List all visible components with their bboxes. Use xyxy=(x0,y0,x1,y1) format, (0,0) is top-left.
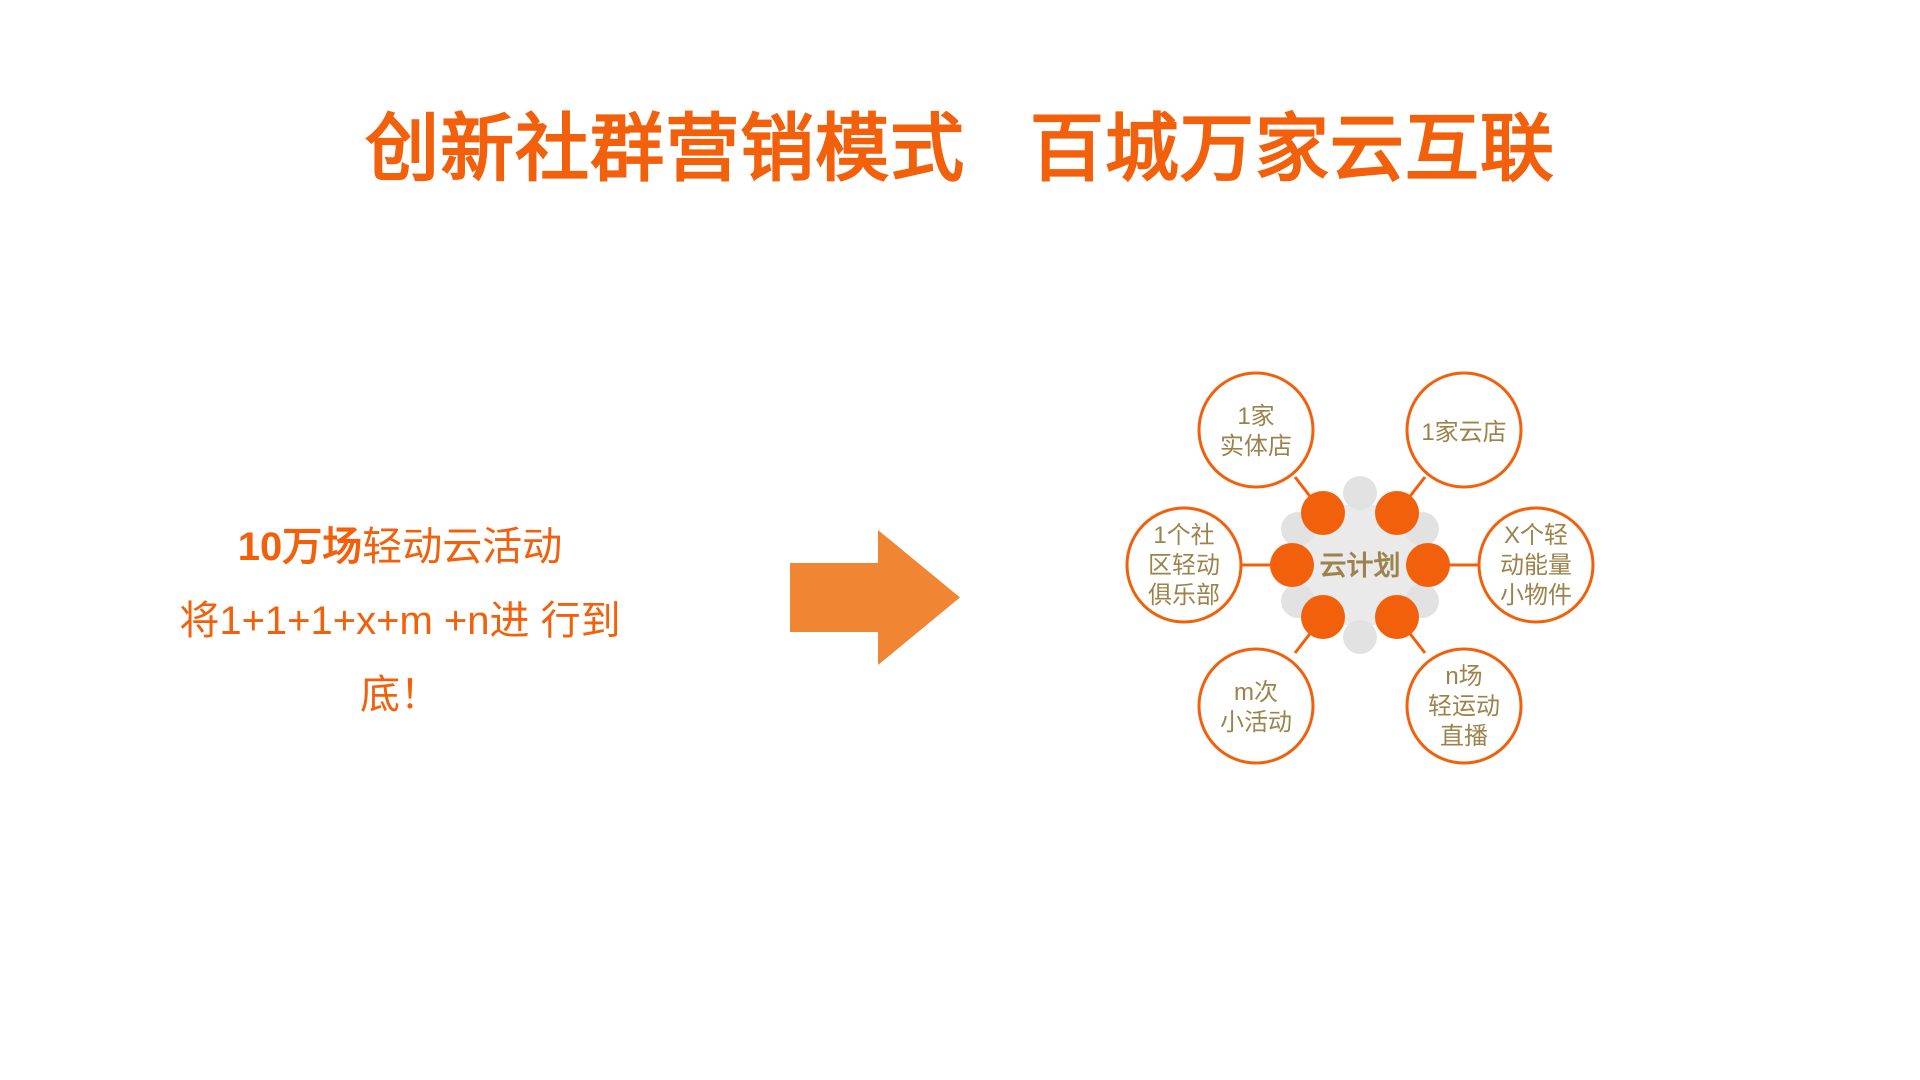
left-text-line-1: 10万场轻动云活动 xyxy=(70,510,730,584)
left-text-line-2: 将1+1+1+x+m +n进 行到 xyxy=(70,584,730,658)
right-arrow-shape xyxy=(790,530,960,665)
node-physical-store-line-2: 实体店 xyxy=(1220,433,1292,460)
left-text-line-1-emphasis: 10万场 xyxy=(238,525,363,569)
left-text-line-1-rest: 轻动云活动 xyxy=(362,525,562,569)
left-text-line-3: 底！ xyxy=(70,658,730,732)
node-live-stream-line-3: 直播 xyxy=(1440,723,1488,750)
node-physical-store[interactable]: 1家 实体店 xyxy=(1199,373,1313,487)
node-small-activity-circle[interactable] xyxy=(1199,649,1313,763)
node-live-stream-line-1: n场 xyxy=(1445,663,1482,690)
node-energy-items-line-2: 动能量 xyxy=(1500,552,1572,579)
node-live-stream[interactable]: n场 轻运动 直播 xyxy=(1407,649,1521,763)
node-community-club-line-1: 1个社 xyxy=(1153,522,1214,549)
node-small-activity-line-2: 小活动 xyxy=(1220,709,1292,736)
node-physical-store-circle[interactable] xyxy=(1199,373,1313,487)
cloud-plan-diagram: 云计划 1家 实体店 1家云店 X个轻 动能量 小物件 n场 轻运动 直播 xyxy=(1080,330,1640,800)
node-live-stream-line-2: 轻运动 xyxy=(1428,693,1500,720)
node-cloud-store[interactable]: 1家云店 xyxy=(1407,373,1521,487)
node-energy-items-line-3: 小物件 xyxy=(1500,582,1572,609)
node-energy-items[interactable]: X个轻 动能量 小物件 xyxy=(1479,508,1593,622)
page-title: 创新社群营销模式 百城万家云互联 xyxy=(0,108,1920,189)
node-small-activity-line-1: m次 xyxy=(1234,679,1278,706)
node-community-club-line-3: 俱乐部 xyxy=(1148,582,1220,609)
node-community-club-line-2: 区轻动 xyxy=(1148,552,1220,579)
node-physical-store-line-1: 1家 xyxy=(1237,403,1274,430)
node-cloud-store-line-1: 1家云店 xyxy=(1421,419,1506,446)
right-arrow-icon xyxy=(790,530,960,665)
node-energy-items-line-1: X个轻 xyxy=(1504,522,1568,549)
left-text-block: 10万场轻动云活动 将1+1+1+x+m +n进 行到 底！ xyxy=(70,510,730,732)
node-community-club[interactable]: 1个社 区轻动 俱乐部 xyxy=(1127,508,1241,622)
hub-label: 云计划 xyxy=(1320,551,1401,581)
node-small-activity[interactable]: m次 小活动 xyxy=(1199,649,1313,763)
